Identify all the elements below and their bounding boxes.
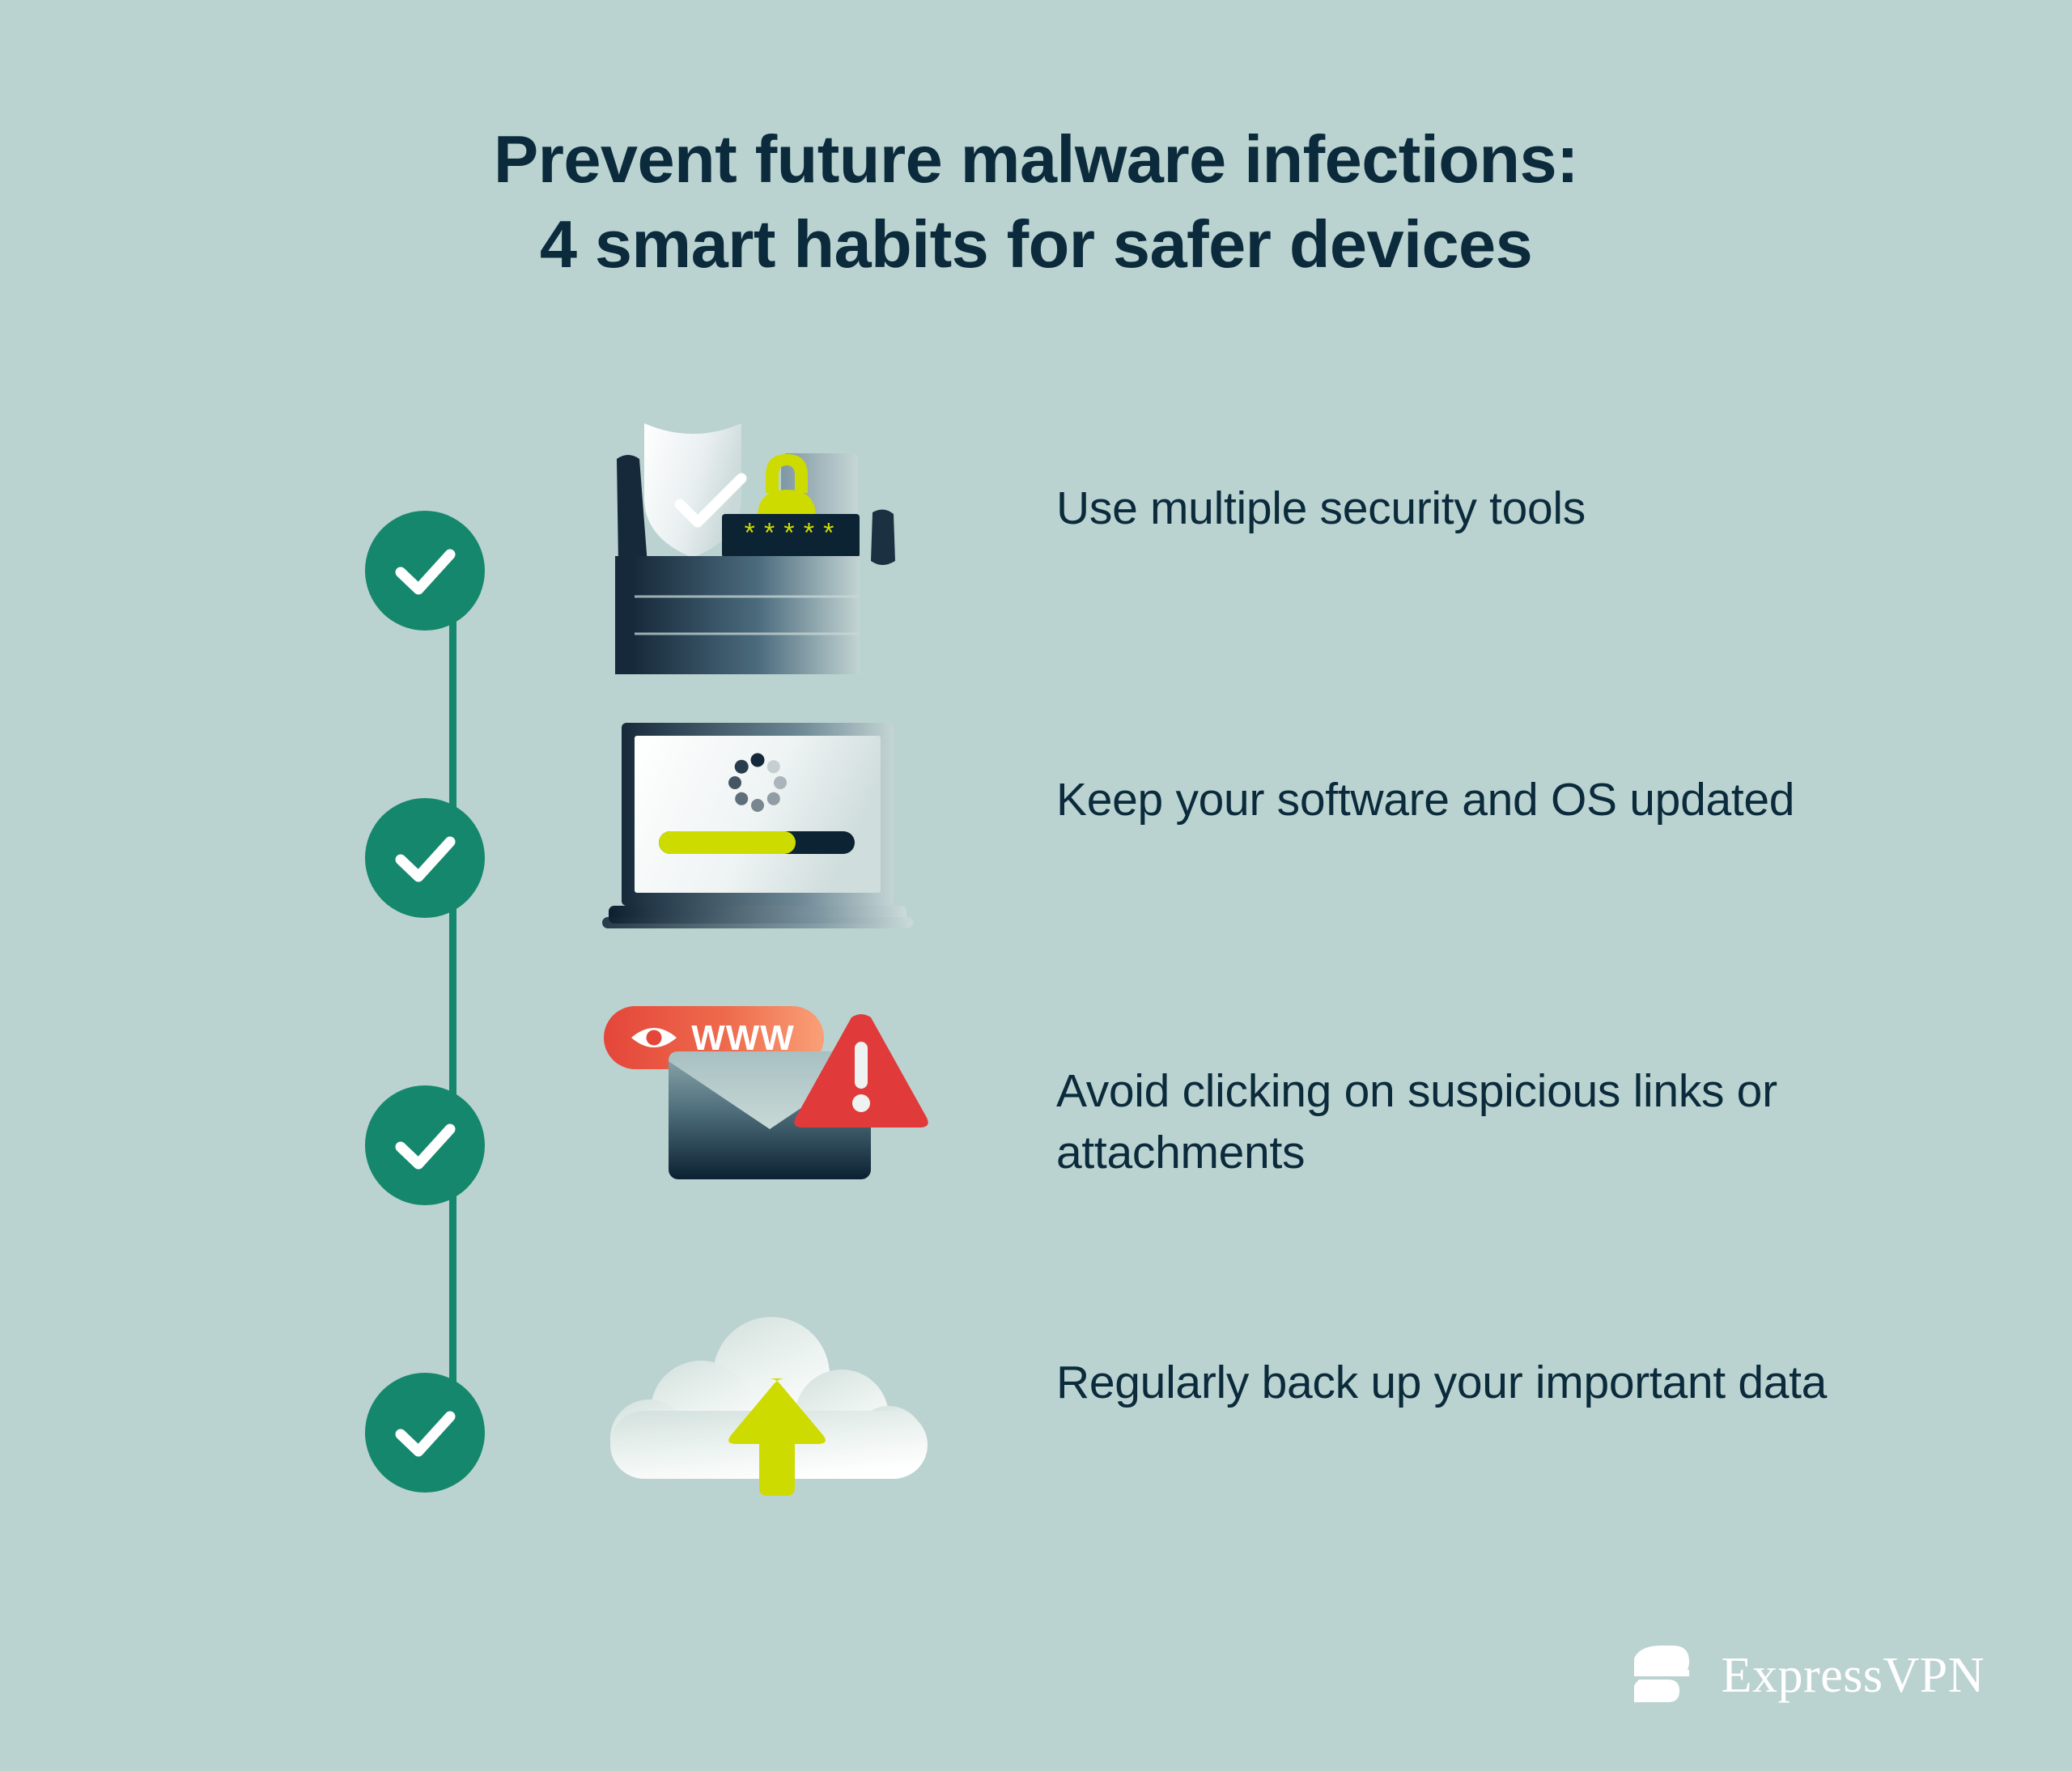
expressvpn-wordmark: ExpressVPN	[1722, 1650, 1985, 1701]
progress-fill	[659, 831, 796, 854]
step-1-label: Use multiple security tools	[1056, 478, 1858, 540]
check-icon	[365, 798, 485, 918]
expressvpn-logo: ExpressVPN	[1634, 1643, 1985, 1708]
step-4-label: Regularly back up your important data	[1056, 1353, 1858, 1414]
step-3-label: Avoid clicking on suspicious links or at…	[1056, 1061, 1858, 1184]
step-4-row: Regularly back up your important data	[599, 1291, 1862, 1566]
toolbox-handle-right	[871, 509, 895, 565]
step-1-check-circle	[365, 511, 485, 631]
cloud-upload-icon	[599, 1291, 939, 1566]
step-2-label: Keep your software and OS updated	[1056, 770, 1858, 831]
step-2-row: Keep your software and OS updated	[599, 708, 1862, 983]
step-3-check-circle	[365, 1085, 485, 1205]
page-title: Prevent future malware infections: 4 sma…	[0, 117, 2072, 287]
page-title-line-2: 4 smart habits for safer devices	[0, 202, 2072, 287]
password-mask: *****	[741, 521, 840, 552]
expressvpn-e-mark-icon	[1634, 1643, 1700, 1708]
step-4-check-circle	[365, 1373, 485, 1493]
toolbox-handle-left	[617, 455, 647, 568]
toolbox-shield-padlock-icon: *****	[599, 417, 939, 692]
page-title-line-1: Prevent future malware infections:	[0, 117, 2072, 202]
check-icon	[365, 1085, 485, 1205]
toolbox-body	[633, 556, 860, 674]
step-1-row: ***** Use multiple security tools	[599, 417, 1862, 692]
step-3-row: WWW Avoid clicking on suspicious links o…	[599, 1000, 1862, 1275]
timeline-connector-line	[449, 571, 456, 1433]
suspicious-email-icon: WWW	[599, 1000, 939, 1275]
check-icon	[365, 1373, 485, 1493]
step-2-check-circle	[365, 798, 485, 918]
check-icon	[365, 511, 485, 631]
laptop-update-icon	[599, 708, 939, 983]
